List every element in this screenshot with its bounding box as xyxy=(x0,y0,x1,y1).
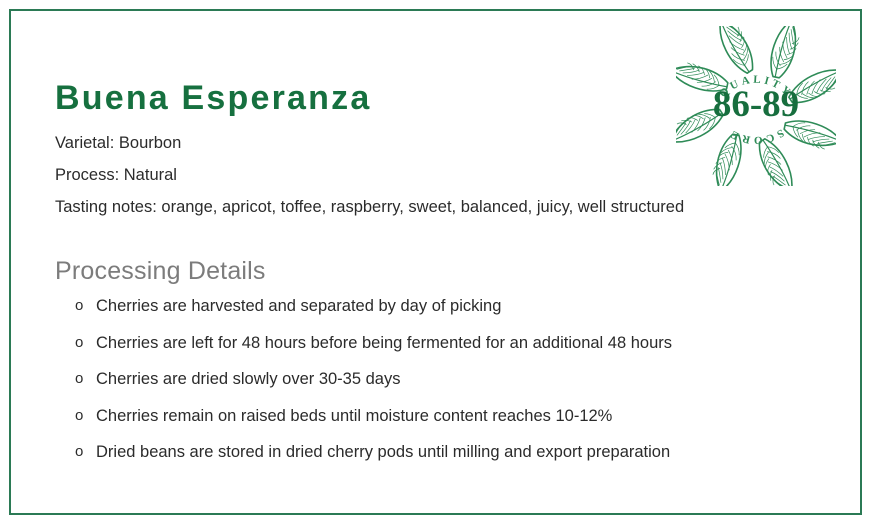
list-item-label: Cherries are harvested and separated by … xyxy=(96,297,501,315)
bullet-marker-icon: o xyxy=(75,406,83,426)
list-item: o Cherries are harvested and separated b… xyxy=(55,296,835,333)
list-item-label: Dried beans are stored in dried cherry p… xyxy=(96,443,670,461)
processing-details-list: o Cherries are harvested and separated b… xyxy=(55,296,835,479)
list-item: o Cherries are dried slowly over 30-35 d… xyxy=(55,369,835,406)
bullet-marker-icon: o xyxy=(75,369,83,389)
list-item: o Cherries are left for 48 hours before … xyxy=(55,333,835,370)
leaf-wreath-icon: QUALITY 86-89 SCORE xyxy=(676,26,836,186)
page-title: Buena Esperanza xyxy=(55,80,371,117)
process-line: Process: Natural xyxy=(55,166,177,186)
processing-details-heading: Processing Details xyxy=(55,257,266,286)
quality-score-badge: QUALITY 86-89 SCORE xyxy=(676,26,836,186)
varietal-line: Varietal: Bourbon xyxy=(55,134,181,154)
tasting-notes-line: Tasting notes: orange, apricot, toffee, … xyxy=(55,198,684,218)
coffee-info-card: Buena Esperanza Varietal: Bourbon Proces… xyxy=(0,0,871,524)
bullet-marker-icon: o xyxy=(75,333,83,353)
list-item: o Dried beans are stored in dried cherry… xyxy=(55,442,835,479)
list-item-label: Cherries are dried slowly over 30-35 day… xyxy=(96,370,400,388)
bullet-marker-icon: o xyxy=(75,296,83,316)
list-item-label: Cherries are left for 48 hours before be… xyxy=(96,334,672,352)
list-item-label: Cherries remain on raised beds until moi… xyxy=(96,407,612,425)
badge-score-label: 86-89 xyxy=(713,84,799,125)
bullet-marker-icon: o xyxy=(75,442,83,462)
list-item: o Cherries remain on raised beds until m… xyxy=(55,406,835,443)
